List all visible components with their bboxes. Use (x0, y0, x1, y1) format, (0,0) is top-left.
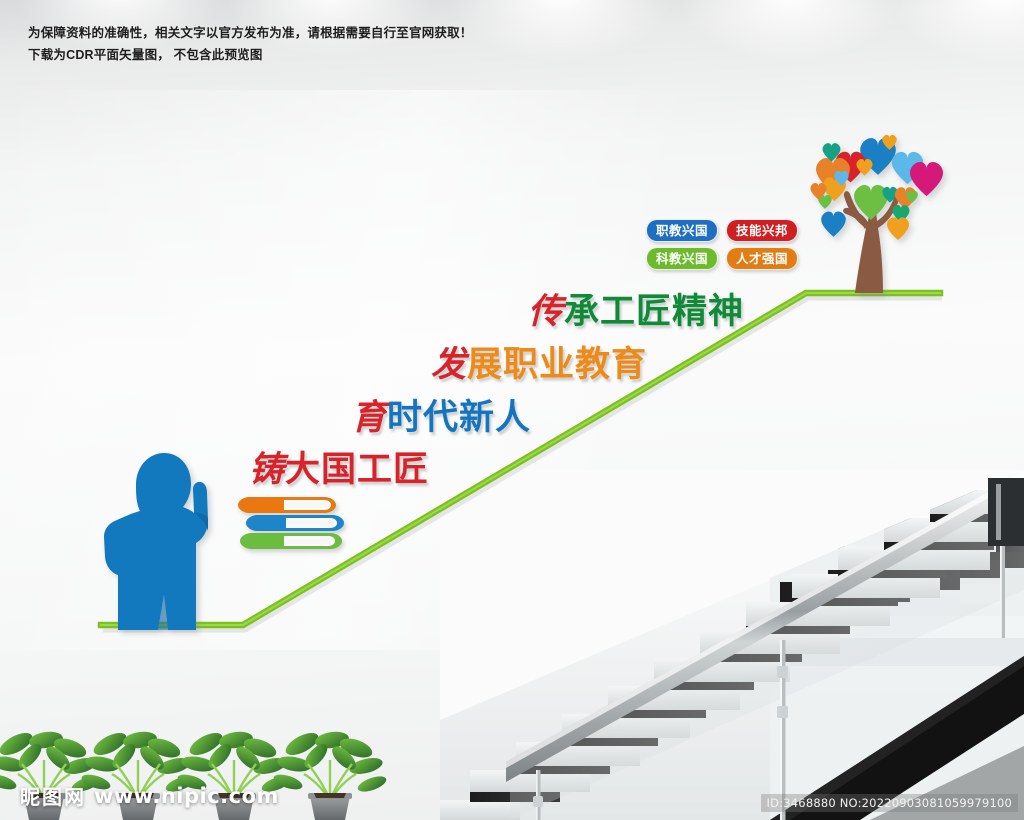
badge-group: 职教兴国 技能兴邦 科教兴国 人才强国 (646, 219, 826, 275)
watermark-url: www.nipic.com (94, 784, 279, 808)
book-green (240, 533, 342, 549)
books-icon (238, 495, 344, 555)
badge-jineng-xingbang[interactable]: 技能兴邦 (726, 219, 798, 242)
badge-rencai-qiangguo[interactable]: 人才强国 (726, 247, 798, 270)
badge-zhijiao-xingguo[interactable]: 职教兴国 (646, 219, 718, 242)
slogan-chuancheng-gongjiang-jingshen: 传承工匠精神 (528, 283, 744, 334)
heart-tree-graphic (795, 128, 943, 301)
slogan-3-rest: 时代新人 (387, 398, 531, 438)
slogan-fazhan-zhiye-jiaoyu: 发展职业教育 (431, 336, 647, 387)
badge-row-1: 职教兴国 技能兴邦 (646, 219, 826, 242)
badge-kejiao-xingguo[interactable]: 科教兴国 (646, 247, 718, 270)
slogan-3-lead: 育 (351, 398, 387, 438)
disclaimer-line-1: 为保障资料的准确性，相关文字以官方发布为准，请根据需要自行至官网获取！ (28, 22, 473, 44)
slogan-1-lead: 传 (528, 292, 564, 332)
book-orange (238, 497, 336, 513)
slogan-4-rest: 大国工匠 (285, 450, 429, 490)
raised-fist-figure-icon (96, 445, 224, 630)
slogan-2-rest: 展职业教育 (467, 345, 647, 385)
stacked-books-graphic (238, 495, 344, 560)
person-silhouette (96, 445, 224, 635)
slogan-yu-shidai-xinren: 育时代新人 (351, 389, 531, 440)
asset-id-label: ID:3468880 NO:20220903081059979100 (761, 794, 1018, 812)
disclaimer-text: 为保障资料的准确性，相关文字以官方发布为准，请根据需要自行至官网获取！ 下载为C… (28, 22, 473, 66)
book-blue (246, 515, 344, 531)
slogan-zhu-daguo-gongjiang: 铸大国工匠 (249, 441, 429, 492)
watermark: 昵图网 www.nipic.com (20, 781, 279, 810)
poster-canvas: 职教兴国 技能兴邦 科教兴国 人才强国 传承工匠精神 发展职业教育 育时代新人 … (0, 0, 1024, 820)
slogan-4-lead: 铸 (249, 450, 285, 490)
badge-row-2: 科教兴国 人才强国 (646, 247, 826, 270)
slogan-2-lead: 发 (431, 345, 467, 385)
slogan-1-rest: 承工匠精神 (564, 292, 744, 332)
disclaimer-line-2: 下载为CDR平面矢量图， 不包含此预览图 (28, 44, 473, 66)
watermark-brand: 昵图网 (20, 781, 86, 810)
